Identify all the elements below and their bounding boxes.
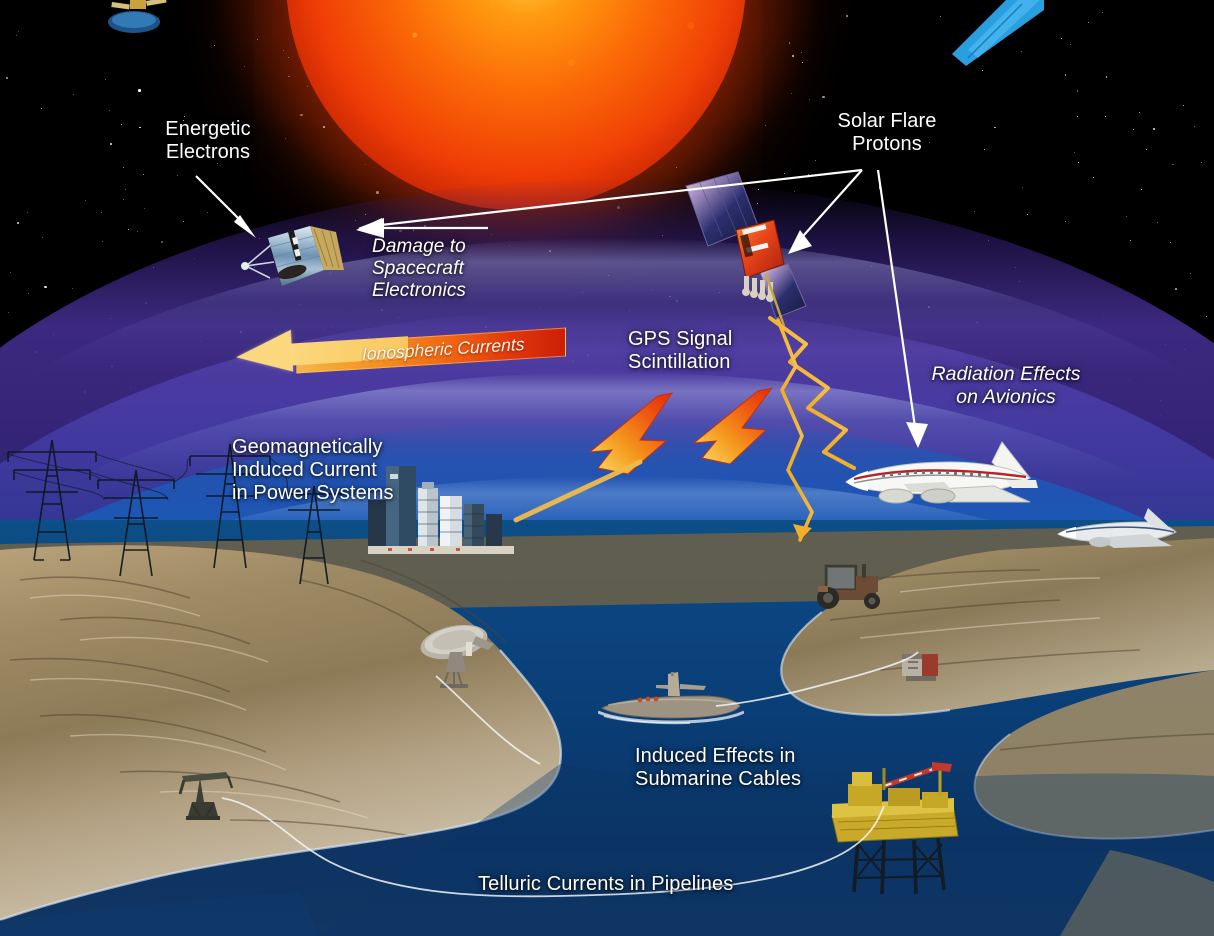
spacecraft: [232, 204, 348, 304]
label-gps-signal-scintillation: GPS Signal Scintillation: [628, 328, 808, 374]
solar-panel-fragment: [952, 0, 1044, 66]
commercial-airliner: [834, 436, 1038, 516]
communications-satellite: [104, 0, 178, 36]
small-aircraft: [1052, 500, 1178, 556]
label-solar-flare-protons: Solar Flare Protons: [806, 110, 968, 156]
oil-pumpjack: [174, 766, 244, 824]
space-weather-diagram: Ionospheric Currents: [0, 0, 1214, 936]
sun: [286, 0, 746, 170]
ionospheric-currents-arrow-head: [235, 330, 293, 378]
farm-tractor: [802, 556, 898, 610]
satellite-dish-antenna: [414, 614, 506, 690]
label-damage-to-spacecraft-electronics: Damage to Spacecraft Electronics: [372, 236, 542, 302]
label-energetic-electrons: Energetic Electrons: [138, 118, 278, 164]
label-geomagnetically-induced-current: Geomagnetically Induced Current in Power…: [232, 436, 482, 506]
label-radiation-effects-on-avionics: Radiation Effects on Avionics: [906, 363, 1106, 408]
label-telluric-currents-in-pipelines: Telluric Currents in Pipelines: [478, 873, 818, 896]
submarine: [598, 672, 744, 728]
gps-satellite: [680, 168, 810, 326]
ionospheric-currents-banner: Ionospheric Currents: [236, 336, 566, 370]
label-induced-effects-in-submarine-cables: Induced Effects in Submarine Cables: [635, 745, 895, 791]
pipeline-station: [896, 644, 946, 692]
